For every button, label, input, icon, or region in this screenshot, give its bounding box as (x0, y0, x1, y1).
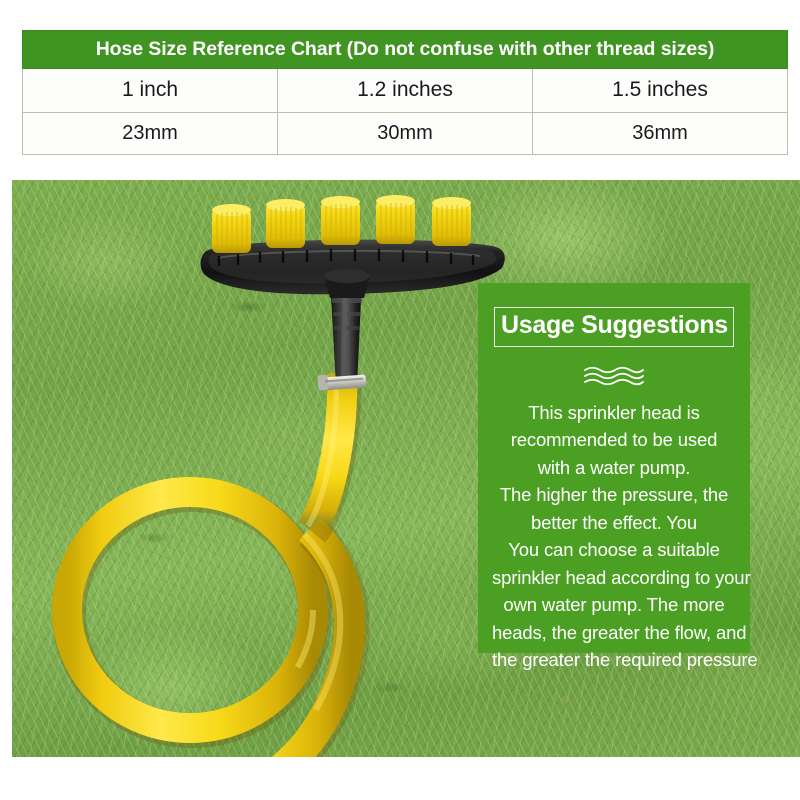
usage-line-4: The higher the pressure, the (492, 481, 736, 509)
usage-line-6: You can choose a suitable (492, 536, 736, 564)
table-cell-size-3: 1.5 inches (533, 69, 788, 112)
nozzle-cap-5 (432, 197, 471, 246)
table-row-sizes: 1 inch 1.2 inches 1.5 inches (23, 69, 788, 112)
usage-suggestions-panel: Usage Suggestions This sprinkler head is… (478, 283, 750, 653)
hose-size-reference-table: Hose Size Reference Chart (Do not confus… (22, 30, 788, 155)
nozzle-cap-2 (266, 199, 305, 248)
usage-line-3: with a water pump. (492, 454, 736, 482)
table-header-row: Hose Size Reference Chart (Do not confus… (23, 31, 788, 69)
table-cell-mm-2: 30mm (278, 112, 533, 154)
hose-coil (67, 492, 315, 731)
usage-body-text: This sprinkler head is recommended to be… (490, 399, 738, 674)
table-row-units: 23mm 30mm 36mm (23, 112, 788, 154)
table-cell-size-1: 1 inch (23, 69, 278, 112)
usage-line-1: This sprinkler head is (492, 399, 736, 427)
table-header-title: Hose Size Reference Chart (Do not confus… (23, 31, 788, 69)
hose-vertical-run (308, 373, 344, 532)
usage-line-7: sprinkler head according to your (492, 564, 736, 592)
water-waves-icon (583, 365, 645, 387)
usage-title: Usage Suggestions (501, 312, 727, 340)
usage-line-8: own water pump. The more (492, 591, 736, 619)
usage-line-9: heads, the greater the flow, and (492, 619, 736, 647)
nozzle-cap-4 (376, 195, 415, 244)
table-cell-mm-3: 36mm (533, 112, 788, 154)
product-photo: Usage Suggestions This sprinkler head is… (12, 180, 800, 757)
product-infographic-page: Hose Size Reference Chart (Do not confus… (0, 0, 800, 800)
usage-line-10: the greater the required pressure (492, 646, 736, 674)
table-cell-size-2: 1.2 inches (278, 69, 533, 112)
usage-title-box: Usage Suggestions (494, 307, 734, 347)
usage-line-2: recommended to be used (492, 426, 736, 454)
nozzle-cap-1 (212, 204, 251, 253)
usage-line-5: better the effect. You (492, 509, 736, 537)
nozzle-cap-3 (321, 196, 360, 245)
table-cell-mm-1: 23mm (23, 112, 278, 154)
